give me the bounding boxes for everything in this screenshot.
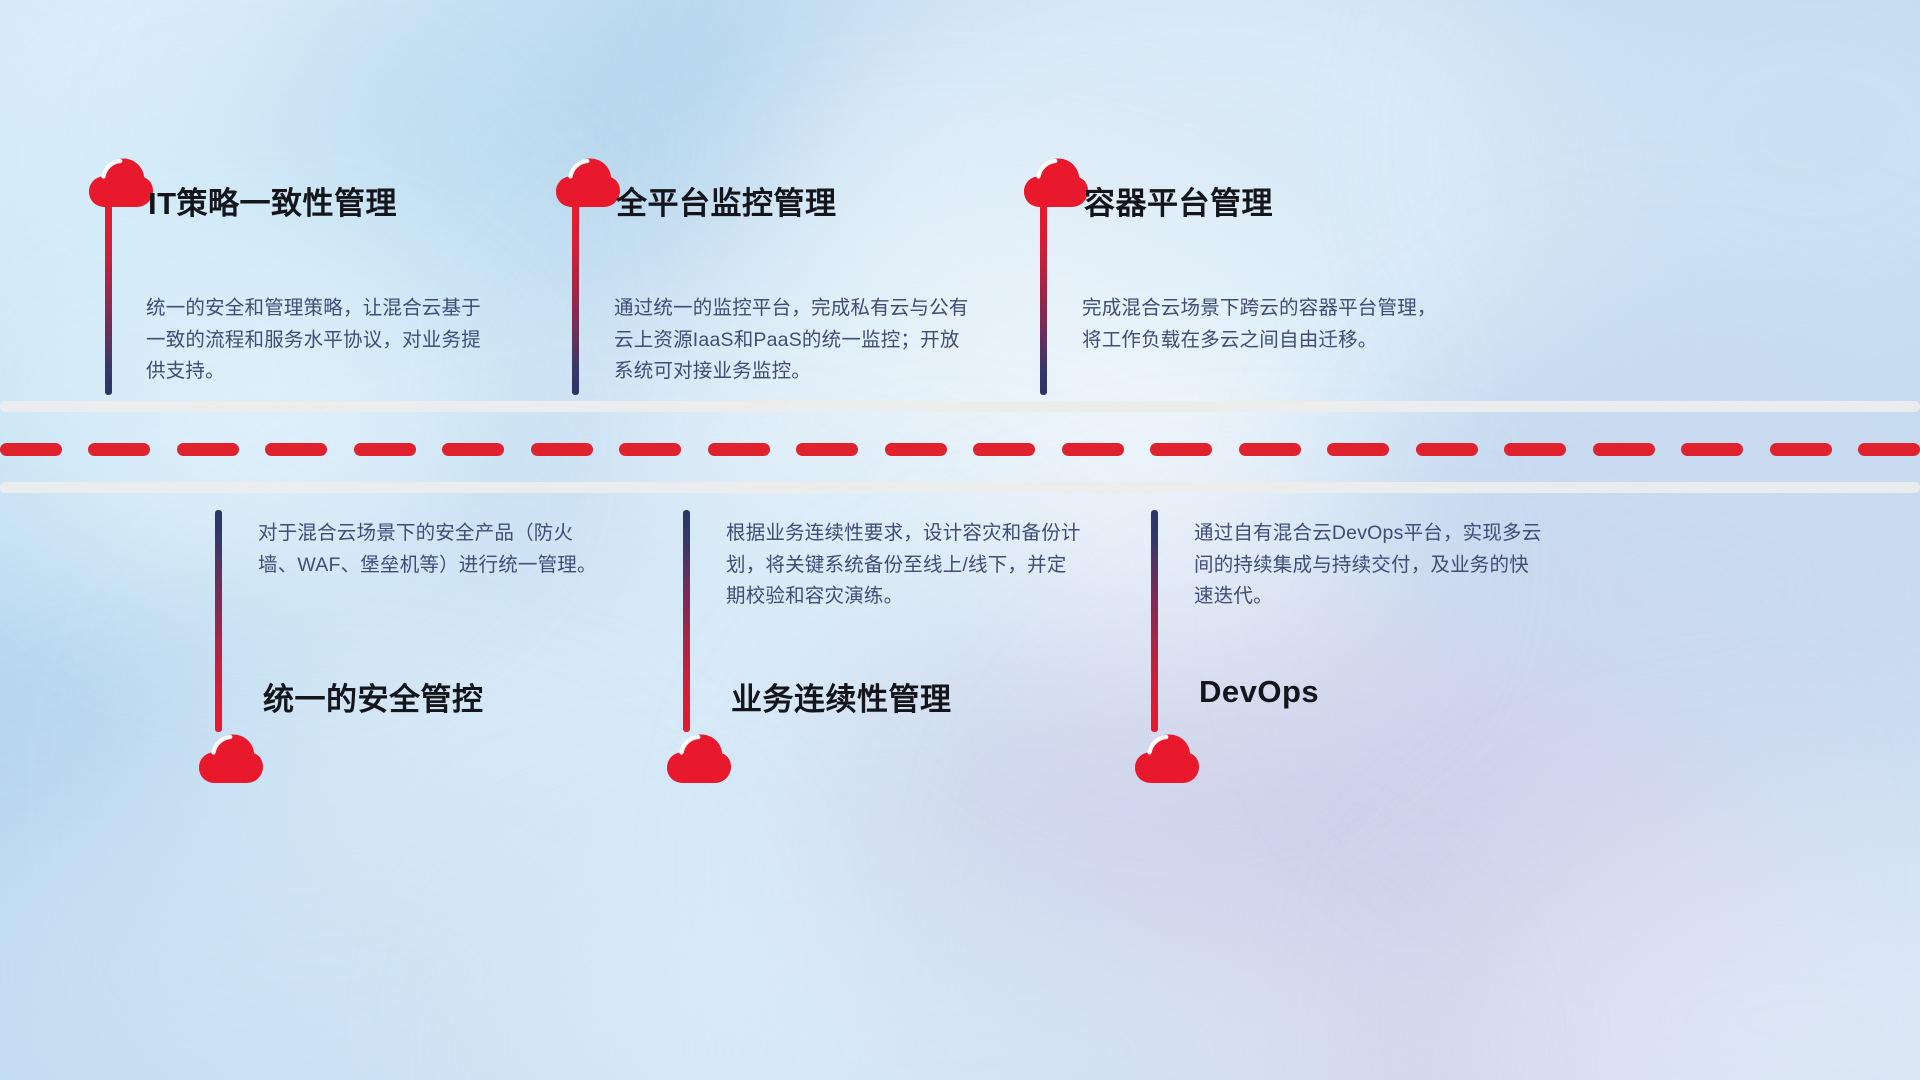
cloud-icon [198, 732, 264, 784]
road-dash-segment [1681, 443, 1743, 456]
cloud-icon [555, 156, 621, 208]
road-dash-segment [1062, 443, 1124, 456]
timeline-stem [1151, 510, 1158, 732]
road-dash-segment [1504, 443, 1566, 456]
road-dash-segment [265, 443, 327, 456]
timeline-stem [683, 510, 690, 732]
road-dash-segment [1770, 443, 1832, 456]
cloud-icon [88, 156, 154, 208]
road-dash-segment [973, 443, 1035, 456]
road-dash-segment [531, 443, 593, 456]
road-dash-segment [1150, 443, 1212, 456]
milestone-description: 统一的安全和管理策略，让混合云基于一致的流程和服务水平协议，对业务提供支持。 [146, 293, 496, 388]
cloud-icon [1023, 156, 1089, 208]
milestone-title: IT策略一致性管理 [148, 178, 397, 223]
road-dash-segment [708, 443, 770, 456]
cloud-icon [666, 732, 732, 784]
road-dash-segment [885, 443, 947, 456]
road-dash-segment [796, 443, 858, 456]
road-dash-segment [1239, 443, 1301, 456]
road-dash-segment [1416, 443, 1478, 456]
milestone-description: 对于混合云场景下的安全产品（防火墙、WAF、堡垒机等）进行统一管理。 [258, 518, 608, 581]
milestone-title: DevOps [1199, 674, 1319, 710]
timeline-stem [1040, 205, 1047, 395]
milestone-description: 根据业务连续性要求，设计容灾和备份计划，将关键系统备份至线上/线下，并定期校验和… [726, 518, 1081, 613]
milestone-title: 全平台监控管理 [616, 178, 837, 223]
milestone-description: 完成混合云场景下跨云的容器平台管理，将工作负载在多云之间自由迁移。 [1082, 293, 1437, 356]
road-dash-segment [442, 443, 504, 456]
road-dash-segment [88, 443, 150, 456]
milestone-title: 统一的安全管控 [263, 674, 484, 719]
road-dash-segment [177, 443, 239, 456]
milestone-description: 通过自有混合云DevOps平台，实现多云间的持续集成与持续交付，及业务的快速迭代… [1194, 518, 1544, 613]
timeline-stem [572, 205, 579, 395]
road-dash-segment [0, 443, 62, 456]
road-dash-segment [1593, 443, 1655, 456]
road-dash-segment [1858, 443, 1920, 456]
road-edge-top [0, 401, 1920, 412]
milestone-title: 容器平台管理 [1084, 178, 1273, 223]
milestone-description: 通过统一的监控平台，完成私有云与公有云上资源IaaS和PaaS的统一监控；开放系… [614, 293, 974, 388]
road-dash-segment [619, 443, 681, 456]
timeline-stem [105, 205, 112, 395]
road-dash-segment [354, 443, 416, 456]
cloud-icon [1134, 732, 1200, 784]
road-dashed-line [0, 443, 1920, 456]
road-edge-bottom [0, 482, 1920, 493]
milestone-title: 业务连续性管理 [731, 674, 952, 719]
timeline-stem [215, 510, 222, 732]
road-dash-segment [1327, 443, 1389, 456]
